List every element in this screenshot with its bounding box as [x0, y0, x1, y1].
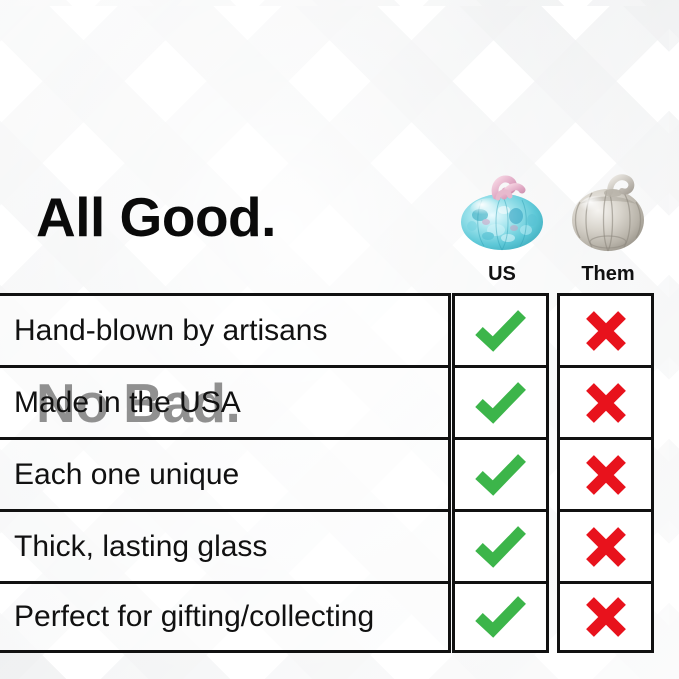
table-row: Perfect for gifting/collecting [0, 581, 679, 653]
cell-them-cross [557, 365, 654, 437]
comparison-table: Hand-blown by artisans Made in the USA [0, 293, 679, 655]
feature-label: Perfect for gifting/collecting [0, 581, 451, 653]
cell-them-cross [557, 437, 654, 509]
product-column-us: US [452, 160, 552, 292]
feature-label: Hand-blown by artisans [0, 293, 451, 365]
product-label-them: Them [558, 262, 658, 286]
green-check-icon [475, 595, 527, 639]
green-check-icon [475, 453, 527, 497]
green-check-icon [475, 381, 527, 425]
comparison-infographic: All Good. No Bad. [0, 0, 679, 679]
cell-us-check [452, 437, 549, 509]
cell-us-check [452, 581, 549, 653]
red-cross-icon [584, 525, 628, 569]
feature-label: Made in the USA [0, 365, 451, 437]
table-row: Made in the USA [0, 365, 679, 437]
headline-line-1: All Good. [36, 186, 276, 248]
red-cross-icon [584, 381, 628, 425]
cell-them-cross [557, 581, 654, 653]
feature-label: Thick, lasting glass [0, 509, 451, 581]
product-column-them: Them [558, 160, 658, 292]
cell-us-check [452, 293, 549, 365]
red-cross-icon [584, 595, 628, 639]
table-row: Thick, lasting glass [0, 509, 679, 581]
green-check-icon [475, 525, 527, 569]
feature-label: Each one unique [0, 437, 451, 509]
product-comparison-header: US [452, 160, 662, 292]
cell-us-check [452, 509, 549, 581]
cell-us-check [452, 365, 549, 437]
table-row: Each one unique [0, 437, 679, 509]
red-cross-icon [584, 453, 628, 497]
product-label-us: US [452, 262, 552, 286]
red-cross-icon [584, 309, 628, 353]
green-check-icon [475, 309, 527, 353]
cell-them-cross [557, 293, 654, 365]
gray-glass-pumpkin-icon [558, 160, 658, 260]
table-row: Hand-blown by artisans [0, 293, 679, 365]
cell-them-cross [557, 509, 654, 581]
blue-glass-pumpkin-icon [452, 160, 552, 260]
